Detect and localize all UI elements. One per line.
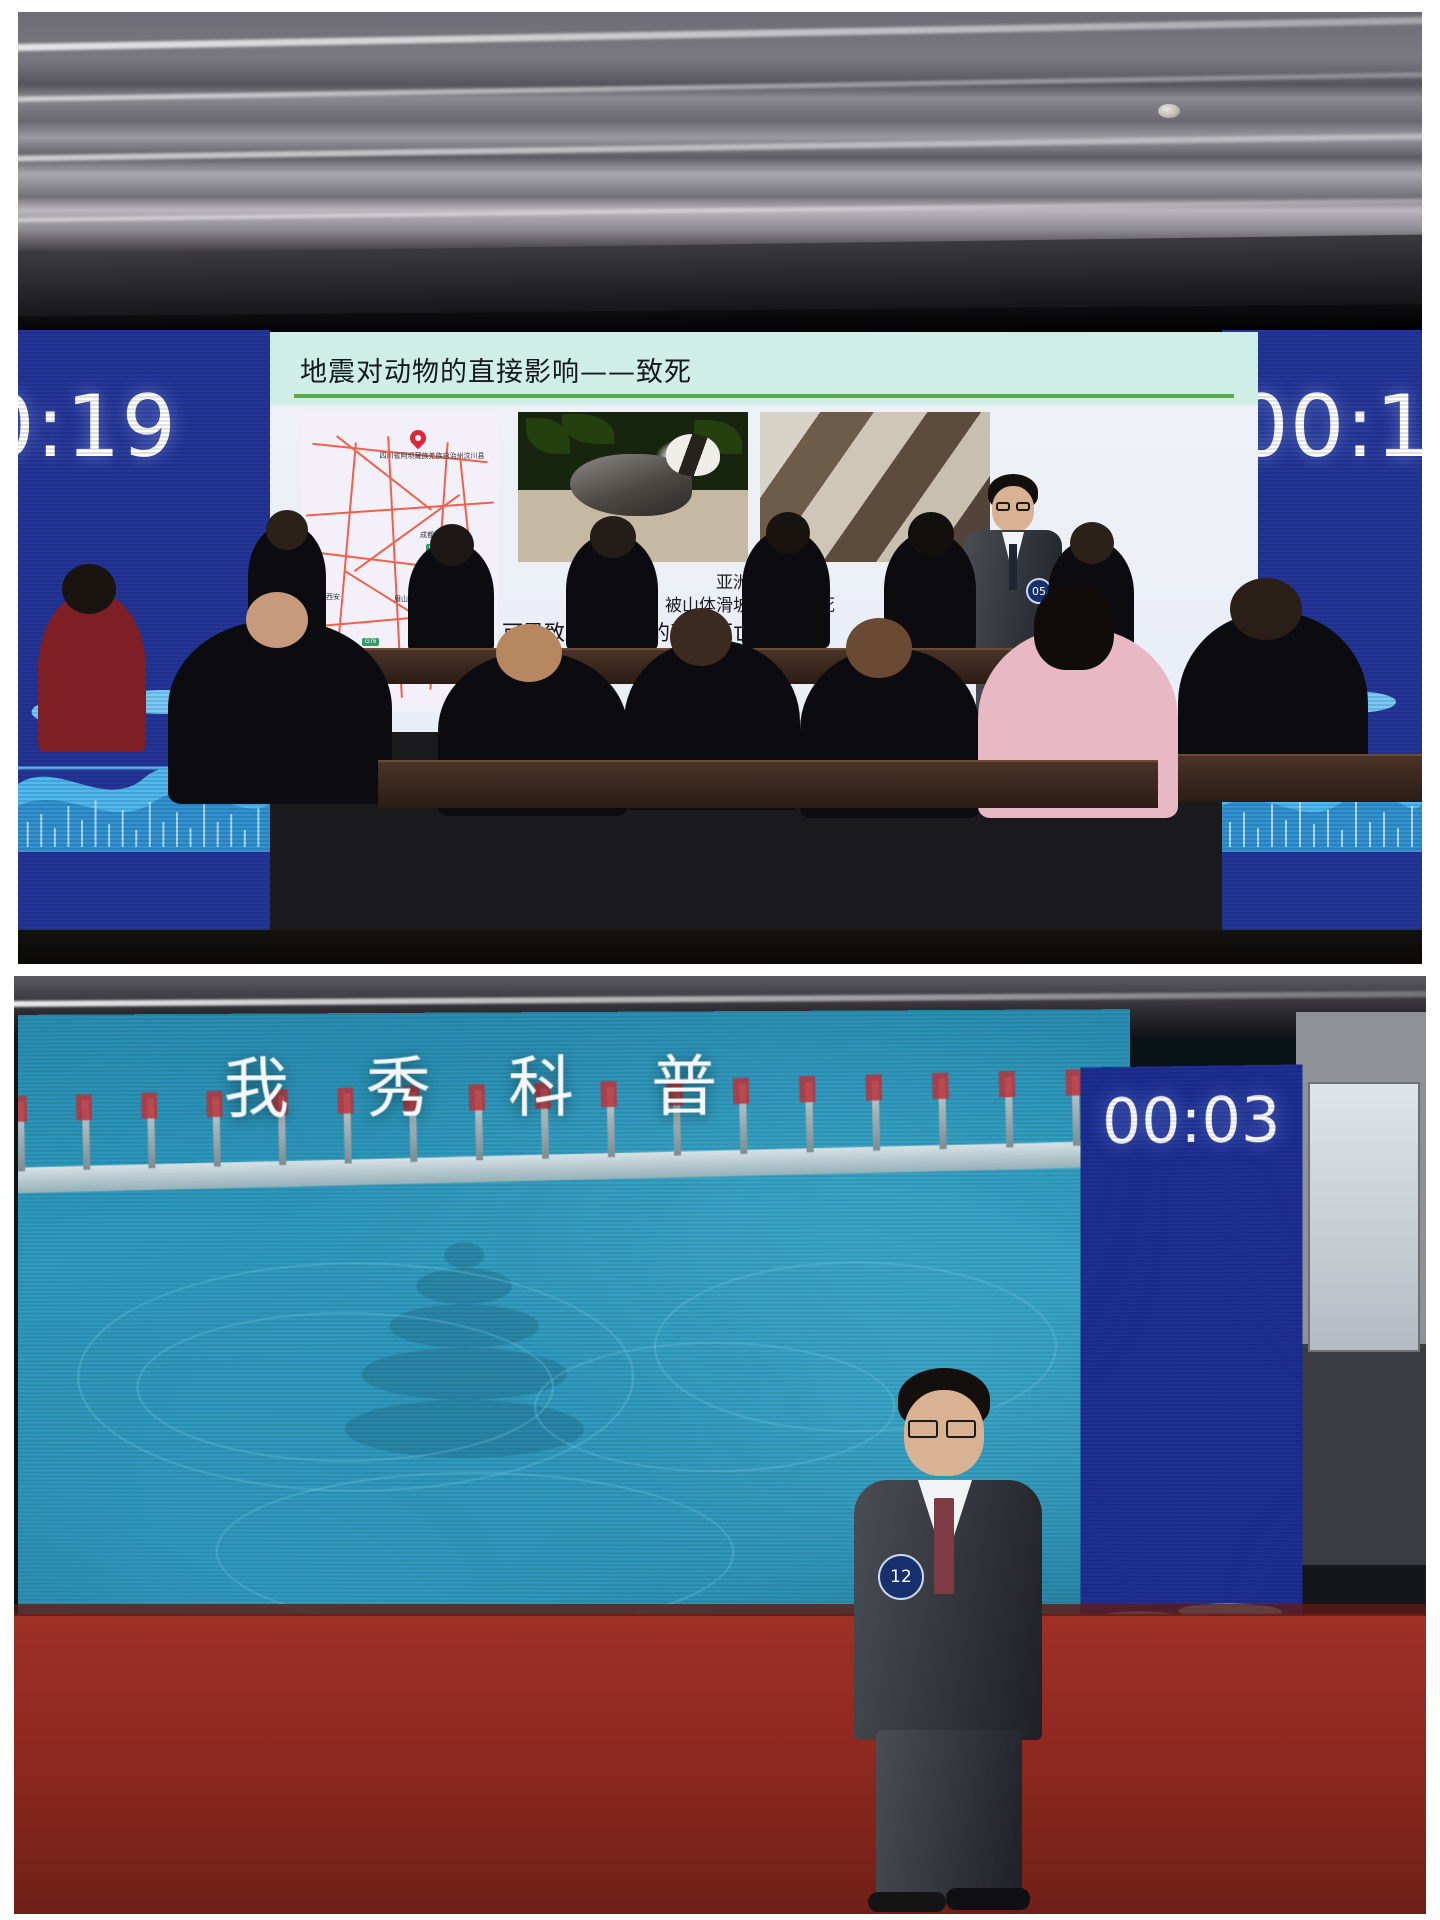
map-city-label: 西安 (326, 592, 340, 602)
glasses-icon (996, 502, 1010, 511)
map-highway-tag: G76 (362, 638, 379, 646)
presenter-shoe (868, 1892, 946, 1912)
presenter-tie (1009, 544, 1017, 590)
smoke-detector-icon (1158, 104, 1180, 118)
floor (18, 930, 1422, 964)
carpet-edge (14, 1604, 1426, 1616)
bottom-photograph: 我 秀 科 普 北京·天坛 供稿人 霍普的影像日志 ‹ (14, 976, 1426, 1914)
ceiling-light-strip (18, 197, 1422, 223)
countdown-timer: 00:03 (1089, 1083, 1295, 1158)
top-photograph: 0:19 (18, 12, 1422, 964)
glasses-icon (908, 1420, 938, 1438)
map-label-wenchuan: 四川省阿坝藏族羌族自治州汶川县 (372, 452, 492, 460)
presenter-bottom: 12 (842, 1368, 1052, 1914)
ceiling-light-strip (18, 15, 1422, 52)
presenter-trousers (876, 1730, 1022, 1902)
ceiling-light-strip (18, 132, 1422, 163)
window (1308, 1082, 1420, 1352)
audience-desk-front (378, 760, 1158, 808)
countdown-timer-left: 0:19 (18, 384, 177, 470)
badger-head (666, 434, 720, 476)
audience-desk-front-right (1178, 754, 1422, 802)
glasses-icon (1016, 502, 1030, 511)
glasses-icon (946, 1420, 976, 1438)
slide-title-underline (294, 394, 1234, 398)
slide-title: 地震对动物的直接影响——致死 (300, 350, 692, 389)
ceiling (18, 12, 1422, 342)
ceiling-light-strip (18, 70, 1422, 102)
screenshot-page: 0:19 (0, 0, 1440, 1920)
map-city-label: 眉山 (394, 594, 408, 604)
map-pin-wenchuan (407, 427, 430, 450)
presenter-shoe (946, 1888, 1030, 1910)
stage-carpet (14, 1614, 1426, 1914)
bridge-deck (18, 1140, 1130, 1194)
screen-title: 我 秀 科 普 (224, 1033, 746, 1131)
countdown-timer-right: 00:19 (1234, 384, 1422, 470)
presenter-tie (934, 1498, 954, 1594)
ceiling-light-strip (14, 991, 1426, 1007)
presenter-badge: 12 (878, 1554, 924, 1600)
